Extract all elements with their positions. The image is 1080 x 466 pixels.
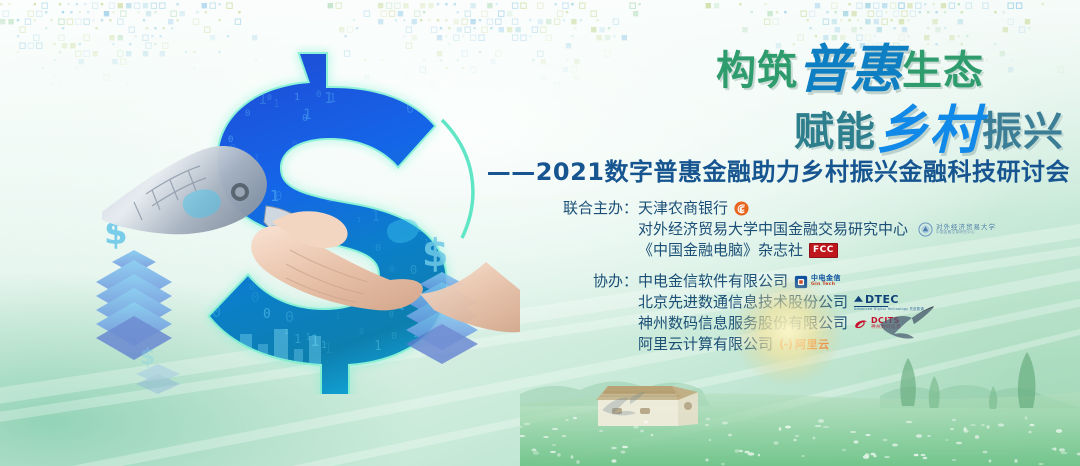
svg-text:1: 1 [261, 69, 266, 79]
svg-text:1: 1 [388, 172, 393, 182]
uibe-logo: 对外经济贸易大学 中国金融交易研究中心 [918, 222, 996, 237]
headline-word-puhui: 普惠 [798, 40, 902, 100]
svg-text:0: 0 [183, 82, 193, 101]
uibe-seal-icon [918, 222, 933, 237]
svg-text:0: 0 [245, 109, 250, 119]
svg-text:0: 0 [191, 103, 196, 112]
headline-word-funeng: 赋能 [794, 109, 876, 155]
svg-text:1: 1 [338, 190, 344, 201]
svg-text:$: $ [140, 345, 155, 370]
svg-text:1: 1 [183, 59, 190, 73]
svg-text:1: 1 [335, 311, 341, 322]
svg-text:1: 1 [185, 258, 192, 271]
svg-text:0: 0 [313, 164, 321, 180]
headline-word-gouzhu: 构筑 [716, 48, 798, 94]
svg-text:0: 0 [391, 331, 397, 342]
headline-subtitle: ——2021数字普惠金融助力乡村振兴金融科技研讨会 [470, 152, 1070, 187]
headline-word-zhenxing: 振兴 [982, 109, 1064, 155]
svg-text:1: 1 [411, 189, 420, 207]
fcc-logo-text: FCC [809, 243, 838, 258]
credit-row: 联合主办： 对外经济贸易大学中国金融交易研究中心 对外经济贸易大学 中国金融交易… [560, 219, 990, 240]
svg-text:0: 0 [424, 96, 433, 114]
svg-text:0: 0 [263, 307, 271, 322]
rural-landscape-illustration [520, 276, 1080, 466]
svg-text:0: 0 [410, 263, 417, 277]
swallow-bird-center [600, 392, 646, 420]
svg-text:0: 0 [360, 172, 369, 190]
svg-text:1: 1 [445, 191, 453, 206]
svg-text:0: 0 [195, 98, 202, 112]
svg-text:0: 0 [206, 319, 212, 330]
conference-banner: 1110001001111001100111111000001110101010… [0, 0, 1080, 466]
uibe-logo-text: 对外经济贸易大学 中国金融交易研究中心 [936, 224, 996, 234]
svg-text:1: 1 [207, 272, 212, 282]
svg-text:0: 0 [259, 362, 264, 372]
svg-text:1: 1 [199, 343, 203, 351]
svg-text:0: 0 [302, 113, 308, 124]
credit-row: 联合主办： 天津农商银行 [560, 198, 990, 219]
headline-line-1: 构筑普惠生态 [470, 44, 1070, 96]
svg-text:0: 0 [359, 327, 364, 336]
coin-stack-left: $ [96, 213, 172, 360]
svg-text:1: 1 [273, 97, 280, 110]
svg-text:1: 1 [270, 187, 279, 205]
credit-label-co-hosts: 联合主办： [560, 198, 638, 219]
svg-text:1: 1 [205, 113, 210, 122]
svg-text:0: 0 [389, 265, 394, 275]
svg-text:0: 0 [190, 307, 197, 321]
svg-text:0: 0 [251, 290, 259, 306]
accent-swoosh [442, 120, 473, 238]
fcc-logo: FCC [809, 243, 838, 258]
credit-text: 《中国金融电脑》杂志社 [638, 240, 803, 261]
trcb-swirl-icon [734, 201, 749, 216]
svg-text:0: 0 [252, 263, 260, 279]
svg-text:1: 1 [294, 92, 300, 103]
svg-text:1: 1 [438, 77, 447, 95]
svg-text:0: 0 [459, 86, 466, 99]
svg-text:1: 1 [225, 95, 230, 104]
svg-text:1: 1 [181, 124, 186, 134]
svg-text:1: 1 [343, 175, 349, 186]
trcb-swirl-logo [734, 201, 749, 216]
svg-text:0: 0 [369, 60, 374, 69]
svg-text:0: 0 [375, 243, 381, 254]
svg-text:0: 0 [316, 90, 321, 100]
svg-text:0: 0 [195, 131, 203, 147]
swallow-bird-right [880, 306, 934, 339]
svg-text:1: 1 [374, 339, 382, 354]
credit-text: 对外经济贸易大学中国金融交易研究中心 [638, 219, 908, 240]
headline-line-2: 赋能乡村振兴 [470, 105, 1070, 157]
svg-text:1: 1 [294, 332, 301, 346]
credit-row: 联合主办： 《中国金融电脑》杂志社 FCC [560, 240, 990, 261]
credit-group-co-hosts: 联合主办： 天津农商银行 联合主办： 对外经济贸易大学中国金融交易研究中心 [560, 198, 990, 261]
coin-stack-far: $ [136, 345, 180, 394]
svg-text:1: 1 [240, 231, 249, 249]
sun [732, 276, 844, 387]
headline-word-shengtai: 生态 [902, 48, 984, 94]
svg-text:0: 0 [267, 93, 272, 102]
svg-text:1: 1 [439, 183, 444, 192]
dollar-handshake-artwork: 1110001001111001100111111000001110101010… [90, 44, 520, 394]
uibe-logo-subname: 中国金融交易研究中心 [936, 231, 996, 235]
svg-text:1: 1 [329, 91, 336, 105]
svg-text:1: 1 [357, 216, 361, 224]
svg-text:1: 1 [216, 76, 223, 89]
stack-dollar-glyph-2: $ [422, 231, 448, 275]
svg-text:0: 0 [185, 341, 195, 360]
svg-text:1: 1 [439, 52, 448, 70]
credit-text: 天津农商银行 [638, 198, 728, 219]
svg-text:1: 1 [405, 201, 412, 214]
svg-text:0: 0 [285, 308, 294, 326]
svg-text:0: 0 [389, 310, 394, 319]
svg-text:1: 1 [324, 341, 332, 357]
